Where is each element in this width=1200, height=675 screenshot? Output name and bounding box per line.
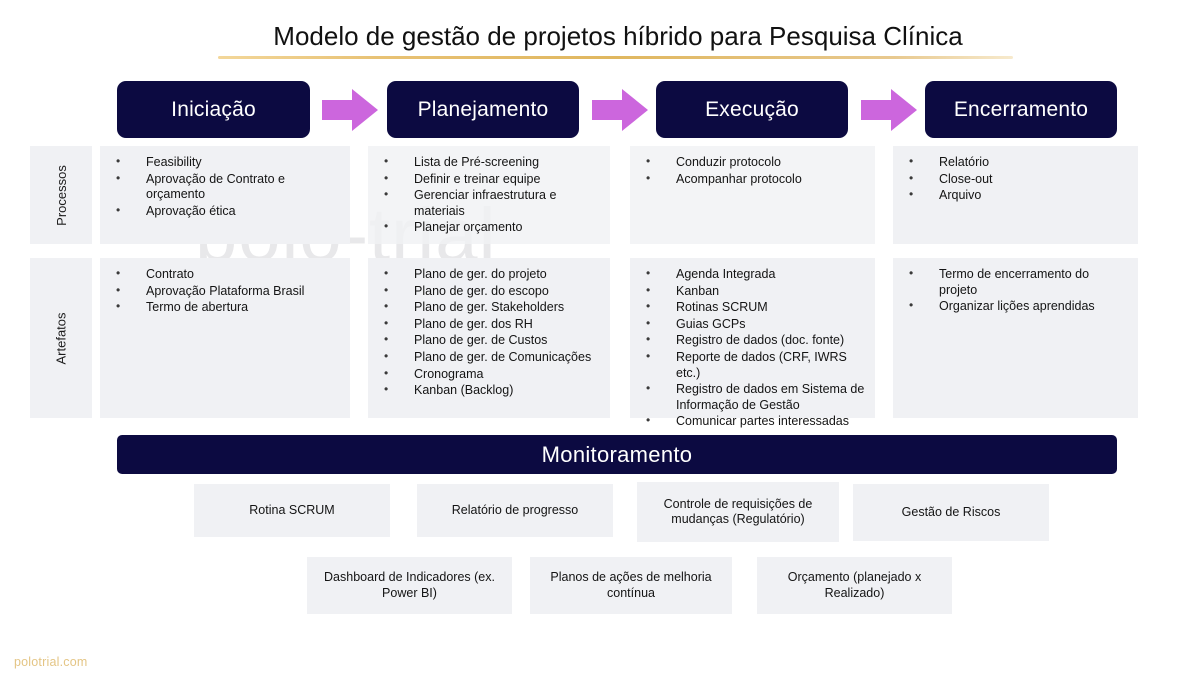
list-item: Lista de Pré-screening [378,155,600,171]
monitoring-card-dashboard-indicadores[interactable]: Dashboard de Indicadores (ex. Power BI) [307,557,512,614]
list-item: Comunicar partes interessadas [640,414,865,430]
list-item: Close-out [903,172,1128,188]
row-label-processos-text: Processos [53,165,68,226]
list-item: Planejar orçamento [378,220,600,236]
monitoring-card-label: Dashboard de Indicadores (ex. Power BI) [315,570,504,601]
list-item: Plano de ger. Stakeholders [378,300,600,316]
list-item: Relatório [903,155,1128,171]
list-item: Aprovação ética [110,204,340,220]
phase-header-planejamento[interactable]: Planejamento [387,81,579,138]
cell-artefatos-execucao: Agenda Integrada Kanban Rotinas SCRUM Gu… [630,258,875,418]
list-item: Kanban (Backlog) [378,383,600,399]
row-label-processos: Processos [30,146,92,244]
list-processos-planejamento: Lista de Pré-screening Definir e treinar… [378,155,600,236]
row-label-artefatos: Artefatos [30,258,92,418]
arrow-right-icon [322,89,378,131]
list-item: Definir e treinar equipe [378,172,600,188]
phase-header-iniciacao-label: Iniciação [171,98,256,122]
list-item: Conduzir protocolo [640,155,865,171]
cell-artefatos-iniciacao: Contrato Aprovação Plataforma Brasil Ter… [100,258,350,418]
phase-header-encerramento-label: Encerramento [954,98,1088,122]
list-item: Organizar lições aprendidas [903,299,1128,315]
list-item: Arquivo [903,188,1128,204]
monitoring-card-gestao-riscos[interactable]: Gestão de Riscos [853,484,1049,541]
monitoring-card-controle-requisicoes[interactable]: Controle de requisições de mudanças (Reg… [637,482,839,542]
cell-processos-encerramento: Relatório Close-out Arquivo [893,146,1138,244]
list-item: Rotinas SCRUM [640,300,865,316]
page-title: Modelo de gestão de projetos híbrido par… [218,20,1018,59]
phase-header-execucao-label: Execução [705,98,799,122]
list-item: Aprovação Plataforma Brasil [110,284,340,300]
phase-header-encerramento[interactable]: Encerramento [925,81,1117,138]
monitoring-card-label: Rotina SCRUM [249,503,334,519]
list-item: Registro de dados em Sistema de Informaç… [640,382,865,413]
monitoring-card-label: Relatório de progresso [452,503,578,519]
list-item: Registro de dados (doc. fonte) [640,333,865,349]
cell-artefatos-planejamento: Plano de ger. do projeto Plano de ger. d… [368,258,610,418]
list-item: Acompanhar protocolo [640,172,865,188]
monitoring-card-orcamento[interactable]: Orçamento (planejado x Realizado) [757,557,952,614]
list-item: Guias GCPs [640,317,865,333]
list-item: Termo de abertura [110,300,340,316]
phase-header-planejamento-label: Planejamento [418,98,549,122]
monitoring-card-label: Gestão de Riscos [902,505,1001,521]
phase-header-iniciacao[interactable]: Iniciação [117,81,310,138]
monitoring-card-label: Controle de requisições de mudanças (Reg… [645,497,831,528]
list-item: Gerenciar infraestrutura e materiais [378,188,600,219]
cell-processos-iniciacao: Feasibility Aprovação de Contrato e orça… [100,146,350,244]
list-processos-execucao: Conduzir protocolo Acompanhar protocolo [640,155,865,187]
list-item: Plano de ger. de Custos [378,333,600,349]
arrow-right-icon [592,89,648,131]
cell-artefatos-encerramento: Termo de encerramento do projeto Organiz… [893,258,1138,418]
monitoramento-banner-label: Monitoramento [542,442,693,468]
monitoring-card-planos-acoes[interactable]: Planos de ações de melhoria contínua [530,557,732,614]
monitoring-card-rotina-scrum[interactable]: Rotina SCRUM [194,484,390,537]
list-item: Contrato [110,267,340,283]
footer-site-label: polotrial.com [14,655,87,669]
list-item: Plano de ger. de Comunicações [378,350,600,366]
list-artefatos-iniciacao: Contrato Aprovação Plataforma Brasil Ter… [110,267,340,316]
page-title-text: Modelo de gestão de projetos híbrido par… [218,20,1018,52]
list-artefatos-encerramento: Termo de encerramento do projeto Organiz… [903,267,1128,315]
list-item: Plano de ger. do projeto [378,267,600,283]
list-item: Aprovação de Contrato e orçamento [110,172,340,203]
title-underline-rule [218,56,1013,59]
list-processos-encerramento: Relatório Close-out Arquivo [903,155,1128,204]
phase-header-execucao[interactable]: Execução [656,81,848,138]
list-artefatos-planejamento: Plano de ger. do projeto Plano de ger. d… [378,267,600,399]
arrow-right-icon [861,89,917,131]
monitoring-card-label: Planos de ações de melhoria contínua [538,570,724,601]
monitoramento-banner[interactable]: Monitoramento [117,435,1117,474]
list-item: Plano de ger. do escopo [378,284,600,300]
row-label-artefatos-text: Artefatos [54,312,69,364]
list-processos-iniciacao: Feasibility Aprovação de Contrato e orça… [110,155,340,219]
list-artefatos-execucao: Agenda Integrada Kanban Rotinas SCRUM Gu… [640,267,865,430]
list-item: Plano de ger. dos RH [378,317,600,333]
cell-processos-execucao: Conduzir protocolo Acompanhar protocolo [630,146,875,244]
list-item: Cronograma [378,367,600,383]
monitoring-card-label: Orçamento (planejado x Realizado) [765,570,944,601]
list-item: Kanban [640,284,865,300]
list-item: Termo de encerramento do projeto [903,267,1128,298]
cell-processos-planejamento: Lista de Pré-screening Definir e treinar… [368,146,610,244]
list-item: Feasibility [110,155,340,171]
monitoring-card-relatorio-progresso[interactable]: Relatório de progresso [417,484,613,537]
list-item: Reporte de dados (CRF, IWRS etc.) [640,350,865,381]
slide-canvas: polo-trial Modelo de gestão de projetos … [0,0,1200,675]
list-item: Agenda Integrada [640,267,865,283]
